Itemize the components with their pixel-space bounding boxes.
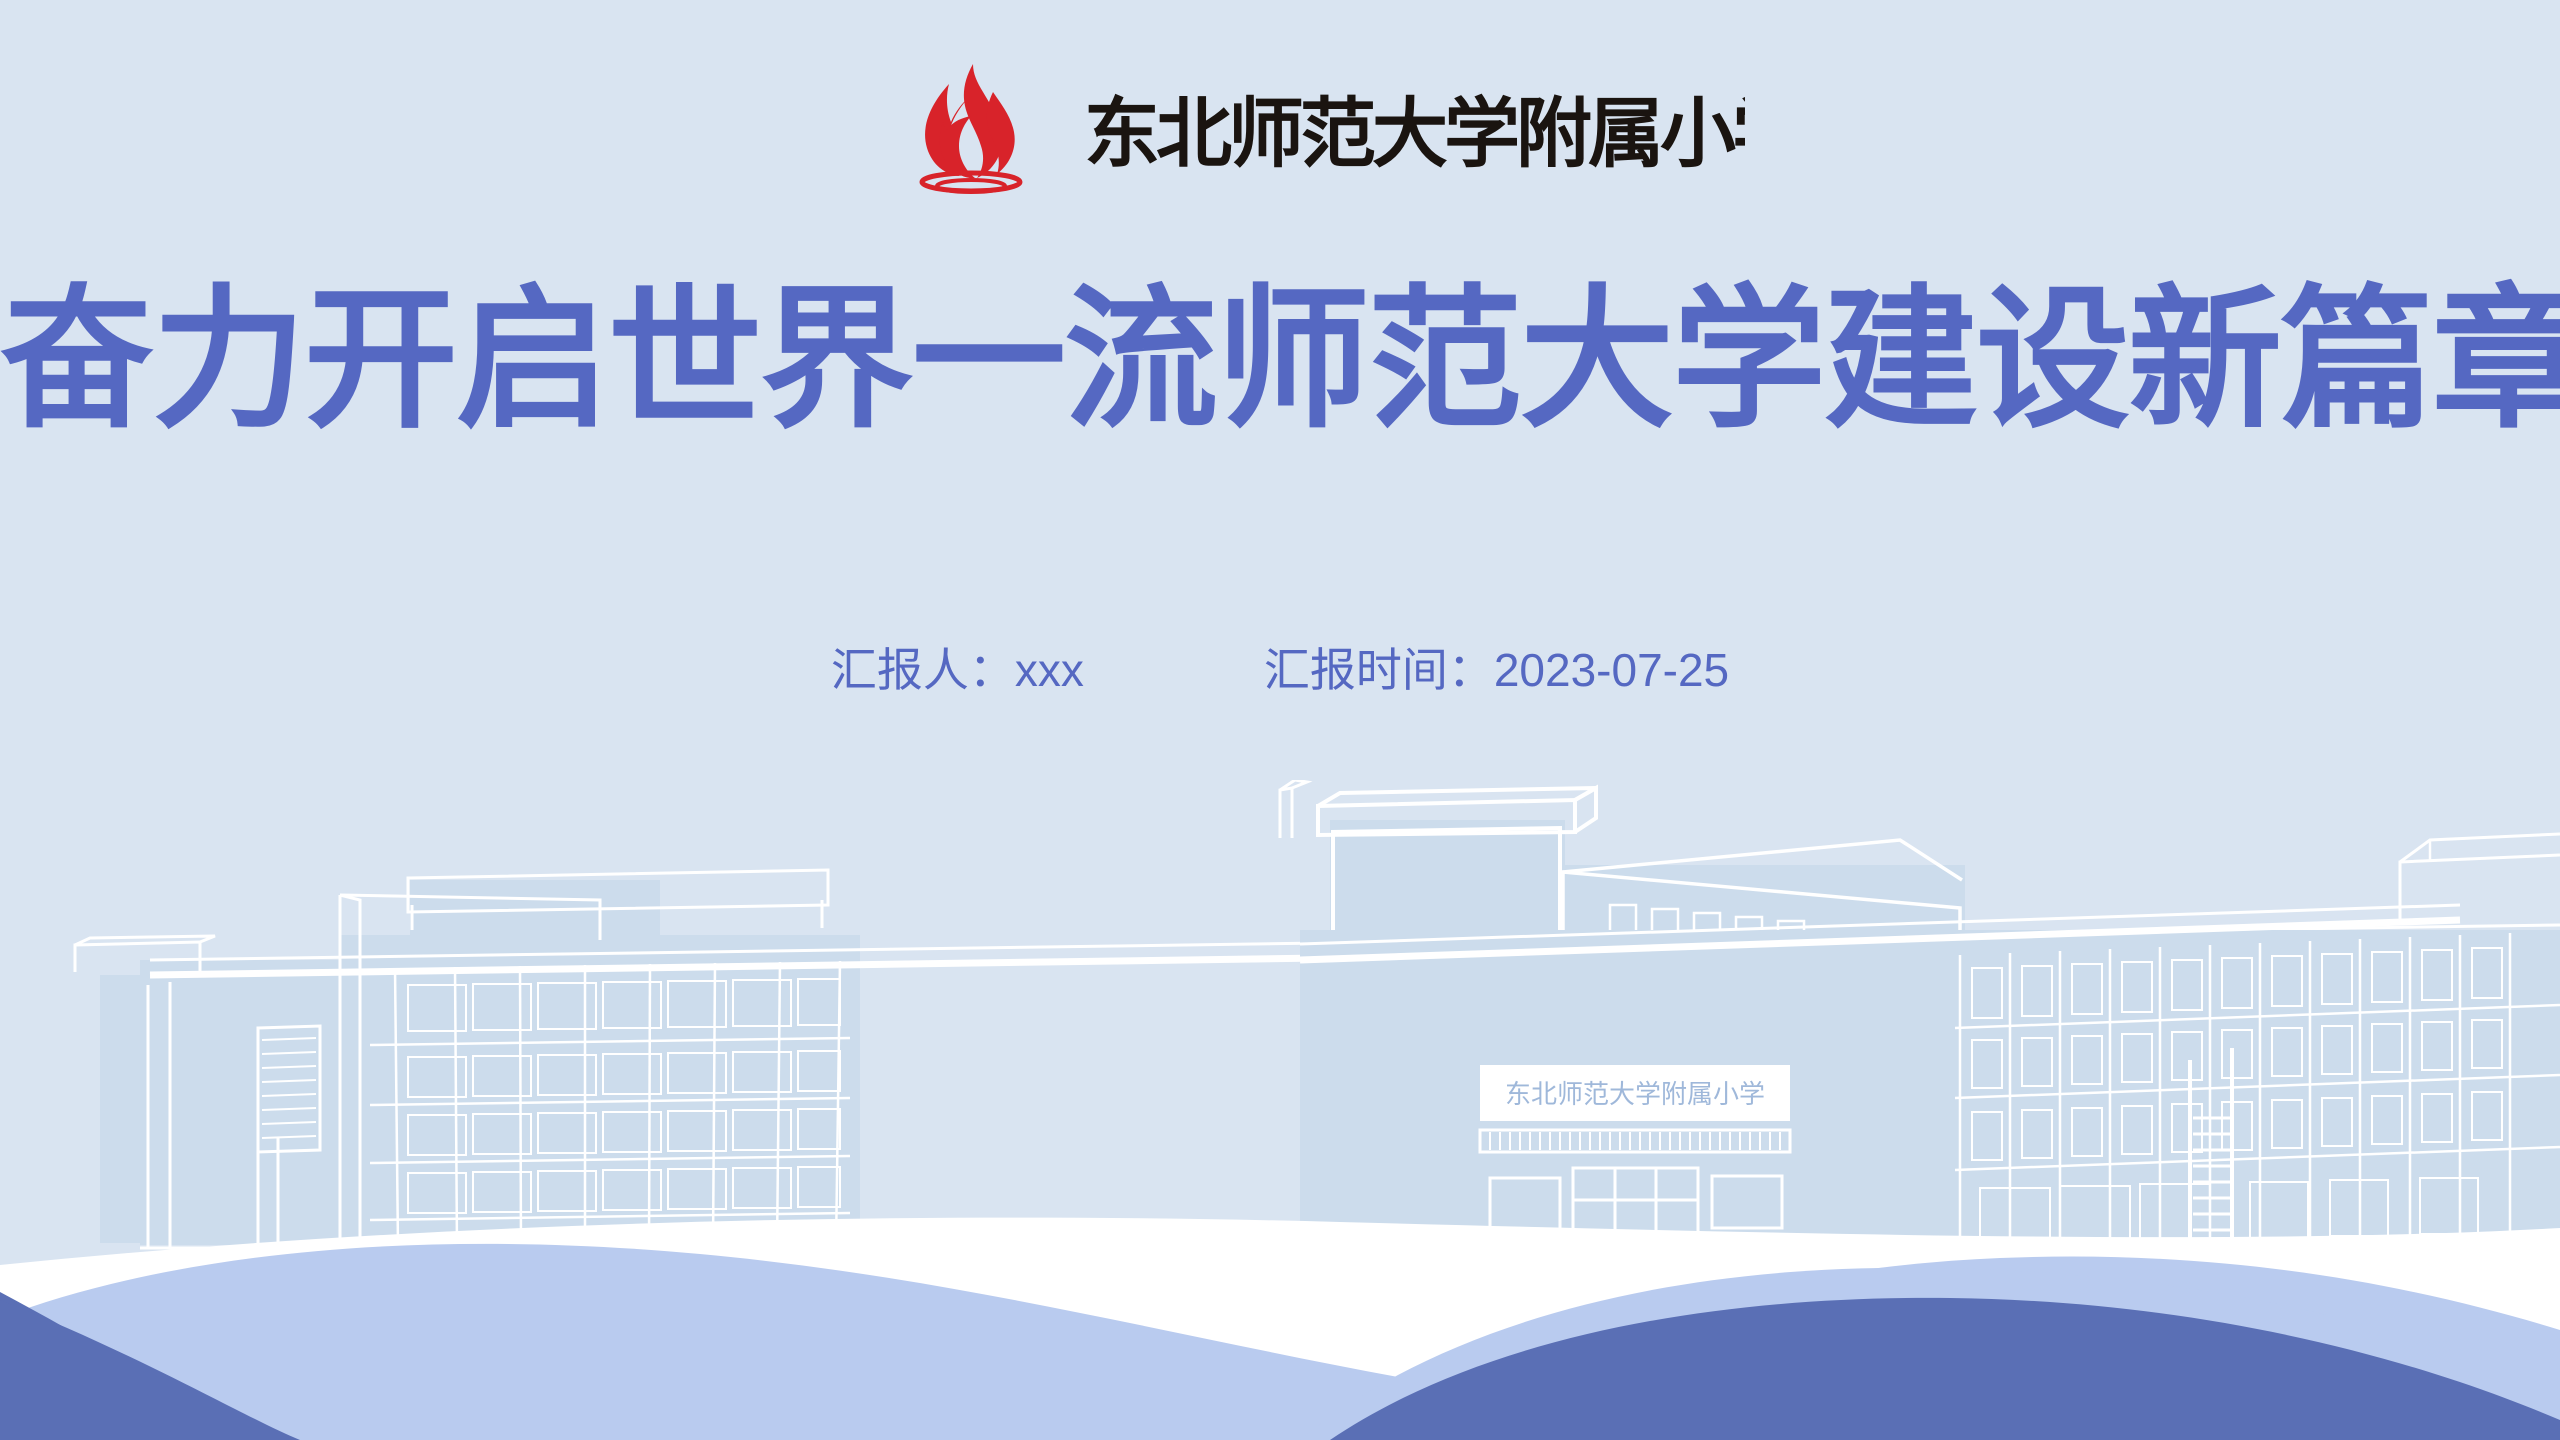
dark-wave-main — [0, 1298, 2560, 1440]
light-wave-right-lobe — [1300, 1268, 2560, 1440]
campus-illustration: 东北师范大学附属小学 — [0, 0, 2560, 1440]
clock-face-icon — [1454, 1008, 1526, 1080]
school-wordmark: 东北师范大学附属小学 — [1083, 62, 1745, 194]
page-title: 奋力开启世界一流师范大学建设新篇章 — [0, 268, 2560, 454]
presenter-value: xxx — [1015, 644, 1084, 696]
presentation-cover-slide: 东北师范大学附属小学 — [0, 0, 2560, 1440]
school-logo: 东北师范大学附属小学 — [915, 58, 1745, 198]
building-signboard: 东北师范大学附属小学 — [1480, 1065, 1790, 1278]
signboard-text: 东北师范大学附属小学 — [1505, 1080, 1765, 1110]
presenter-label: 汇报人： — [831, 644, 1015, 696]
light-wave — [0, 1244, 2560, 1440]
date-label: 汇报时间： — [1264, 644, 1494, 696]
date-value: 2023-07-25 — [1494, 644, 1729, 696]
school-wordmark-text: 东北师范大学附属小学 — [1084, 89, 1745, 178]
wave-decoration — [0, 0, 2560, 1440]
ground-band — [0, 1218, 2560, 1440]
flame-torch-icon — [915, 62, 1027, 194]
dark-wave — [0, 1292, 250, 1440]
date-field: 汇报时间：2023-07-25 — [1264, 638, 1729, 702]
presentation-meta: 汇报人：xxx 汇报时间：2023-07-25 — [0, 638, 2560, 702]
presenter-field: 汇报人：xxx — [831, 638, 1084, 702]
